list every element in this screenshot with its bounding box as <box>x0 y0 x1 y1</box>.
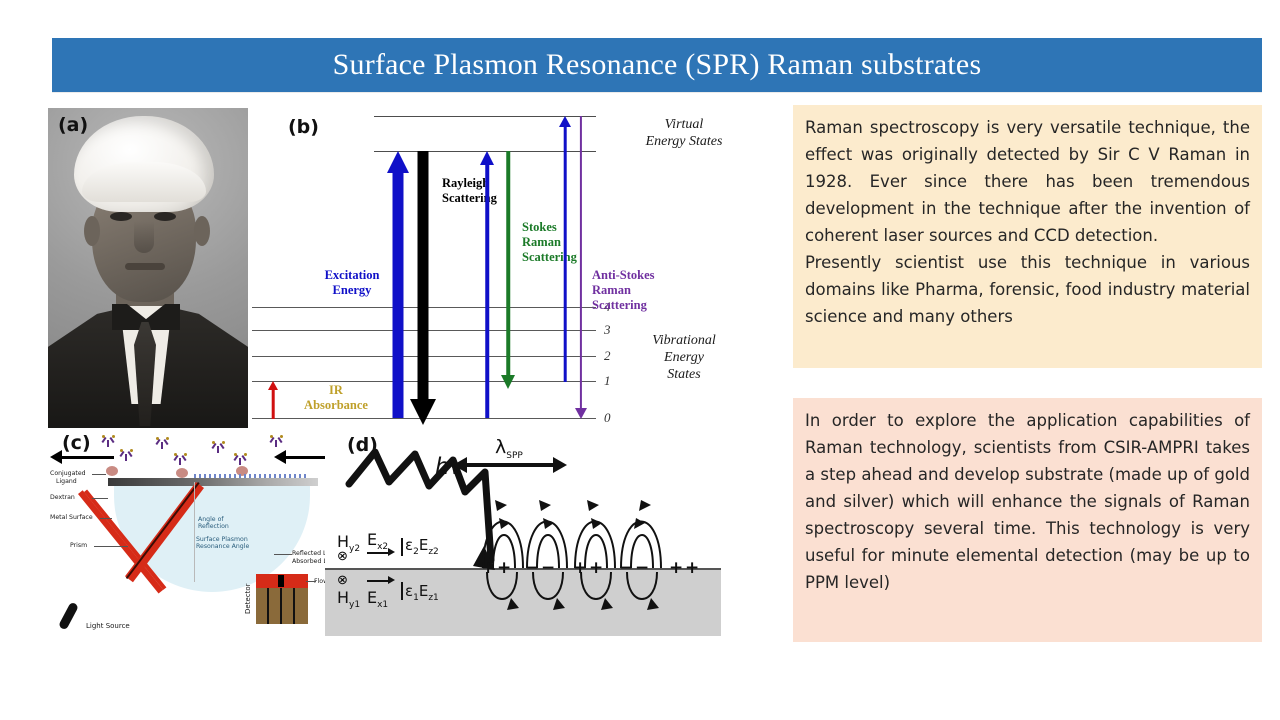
surface-charge: + <box>573 558 587 578</box>
vibrational-line3: States <box>624 366 744 383</box>
textbox-paragraph: In order to explore the application capa… <box>805 407 1250 596</box>
Ex2-label: Ex2 <box>367 530 388 552</box>
ex1-arrow-head <box>388 576 395 584</box>
photo-ear-right <box>194 216 210 246</box>
ex2-arrow-shaft <box>367 552 389 554</box>
lambda-spp-label: λSPP <box>495 436 523 461</box>
surface-charge: − <box>525 558 539 578</box>
label-metal-surface: Metal Surface <box>50 514 93 521</box>
textbox-paragraph: Presently scientist use this technique i… <box>805 249 1250 330</box>
virtual-energy-states-line2: Energy States <box>624 133 744 150</box>
antistokes-line2: Raman <box>592 283 655 298</box>
lambda-subscript: SPP <box>506 451 523 461</box>
antibody-icon <box>212 440 225 453</box>
surface-charge: + <box>685 558 699 578</box>
Ex2-subscript: x2 <box>377 542 388 552</box>
flow-arrow-right-head <box>274 450 286 464</box>
ir-line1: IR <box>290 383 382 398</box>
vibrational-line2: Energy <box>624 349 744 366</box>
Ez2-symbol: E <box>419 536 428 554</box>
surface-charge: − <box>541 558 555 578</box>
level-number-1: 1 <box>604 373 611 389</box>
eps2-Ez2-label: ε2Ez2 <box>405 536 439 557</box>
Ez2-subscript: z2 <box>428 547 438 557</box>
flow-arrow-left-shaft <box>58 456 114 459</box>
excitation-energy-label: Excitation Energy <box>312 268 392 298</box>
eps1-symbol: ε <box>405 582 413 600</box>
antibody-icon <box>156 436 169 449</box>
Hy1-subscript: y1 <box>349 600 360 610</box>
conjugated-ligand-blob <box>106 466 118 476</box>
panel-label-d: (d) <box>347 434 378 456</box>
normal-reference-line <box>194 482 195 582</box>
detector-channel <box>280 588 282 624</box>
virtual-energy-states-label: Virtual Energy States <box>624 116 744 150</box>
photo-ear-left <box>84 216 100 246</box>
leader-line <box>94 546 128 547</box>
antibody-icon <box>234 452 247 465</box>
ir-line2: Absorbance <box>290 398 382 413</box>
lambda-arrow-head-right <box>553 457 567 473</box>
photo-nose <box>134 221 154 253</box>
leader-line <box>100 518 112 519</box>
stokes-incident-arrow-up <box>480 151 494 418</box>
panel-label-a: (a) <box>58 114 88 136</box>
ez1-tick <box>401 582 403 600</box>
conjugated-ligand-blob <box>176 468 188 478</box>
light-source-lamp <box>58 602 79 631</box>
surface-charge: − <box>635 558 649 578</box>
surface-charge: + <box>669 558 683 578</box>
eps2-symbol: ε <box>405 536 413 554</box>
virtual-energy-states-line1: Virtual <box>624 116 744 133</box>
Hy1-label: Hy1 <box>337 588 360 610</box>
leader-line <box>306 581 316 582</box>
detector-channel <box>267 588 269 624</box>
antibody-icon <box>270 434 283 447</box>
flow-arrow-left-head <box>50 450 62 464</box>
surface-charge: + <box>589 558 603 578</box>
lambda-arrow-shaft <box>465 463 555 467</box>
textbox-raman-intro: Raman spectroscopy is very versatile tec… <box>793 105 1262 368</box>
antistokes-incident-arrow-up <box>559 116 571 382</box>
Ez1-subscript: z1 <box>428 593 438 603</box>
photo-eye-left <box>110 212 132 221</box>
ex1-arrow-shaft <box>367 580 389 582</box>
label-prism: Prism <box>70 542 87 549</box>
Ex1-label: Ex1 <box>367 588 388 610</box>
h-into-page-icon: ⊗ <box>337 548 348 564</box>
photo-mouth <box>125 263 165 270</box>
eps1-Ez1-label: ε1Ez1 <box>405 582 439 603</box>
level-number-3: 3 <box>604 322 611 338</box>
leader-line <box>92 498 108 499</box>
Ez1-symbol: E <box>419 582 428 600</box>
label-conjugated: Conjugated <box>50 470 86 477</box>
anti-stokes-raman-scattering-label: Anti-Stokes Raman Scattering <box>592 268 655 313</box>
detector-body <box>256 588 308 624</box>
cv-raman-photo <box>48 108 248 428</box>
antibody-icon <box>174 452 187 465</box>
label-ligand: Ligand <box>56 478 77 485</box>
leader-line <box>92 474 106 475</box>
surface-charge: + <box>497 558 511 578</box>
slide-title-bar: Surface Plasmon Resonance (SPR) Raman su… <box>52 38 1262 92</box>
level-number-0: 0 <box>604 410 611 426</box>
Ex1-subscript: x1 <box>377 600 388 610</box>
label-resonance-angle: Resonance Angle <box>196 543 249 550</box>
Hy2-subscript: y2 <box>349 544 360 554</box>
field-lines-below <box>465 570 721 630</box>
antistokes-line3: Scattering <box>592 298 655 313</box>
ez2-tick <box>401 538 403 556</box>
antistokes-scattered-arrow-down <box>575 116 587 420</box>
label-reflection: Reflection <box>198 523 229 530</box>
textbox-csir-ampri: In order to explore the application capa… <box>793 398 1262 642</box>
rayleigh-scattering-arrow-down <box>410 151 436 425</box>
page-title: Surface Plasmon Resonance (SPR) Raman su… <box>333 48 982 82</box>
vibrational-line1: Vibrational <box>624 332 744 349</box>
vibrational-energy-states-label: Vibrational Energy States <box>624 332 744 383</box>
lambda-arrow-head-left <box>453 457 467 473</box>
ex2-arrow-head <box>388 548 395 556</box>
label-surface-plasmon: Surface Plasmon <box>196 536 248 543</box>
metal-surface-film <box>108 478 318 486</box>
flow-cell-dip <box>278 575 284 587</box>
panel-c-spr-prism-diagram: (c) <box>48 432 334 644</box>
label-detector: Detector <box>244 583 252 614</box>
Ex2-symbol: E <box>367 530 377 549</box>
Ex1-symbol: E <box>367 588 377 607</box>
ir-absorbance-arrow-up <box>268 381 278 419</box>
h1-into-page-icon: ⊗ <box>337 572 348 588</box>
textbox-paragraph: Raman spectroscopy is very versatile tec… <box>805 114 1250 249</box>
panel-a-portrait: (a) <box>48 108 248 428</box>
label-light-source: Light Source <box>86 622 130 630</box>
antibody-icon <box>120 448 133 461</box>
panel-b-jablonski-diagram: (b) 4 3 2 1 0 Virtual Energy States Vibr… <box>252 108 764 430</box>
ir-absorbance-label: IR Absorbance <box>290 383 382 413</box>
stokes-scattered-arrow-down <box>501 151 515 389</box>
surface-charge: − <box>619 558 633 578</box>
slide-canvas: Surface Plasmon Resonance (SPR) Raman su… <box>0 0 1280 720</box>
label-angle-of: Angle of <box>198 516 224 523</box>
surface-charge: + <box>481 558 495 578</box>
panel-label-b: (b) <box>288 116 319 138</box>
label-dextran: Dextran <box>50 494 75 501</box>
level-number-2: 2 <box>604 348 611 364</box>
antibody-icon <box>102 434 115 447</box>
excitation-line1: Excitation <box>312 268 392 283</box>
lambda-symbol: λ <box>495 436 506 458</box>
panel-label-c: (c) <box>62 432 91 454</box>
antistokes-line1: Anti-Stokes <box>592 268 655 283</box>
detector-channel <box>293 588 295 624</box>
photo-eye-right <box>154 212 176 221</box>
Hy1-symbol: H <box>337 588 349 607</box>
leader-line <box>274 554 292 555</box>
panel-d-spp-diagram: (d) hv λSPP <box>325 432 721 644</box>
excitation-line2: Energy <box>312 283 392 298</box>
